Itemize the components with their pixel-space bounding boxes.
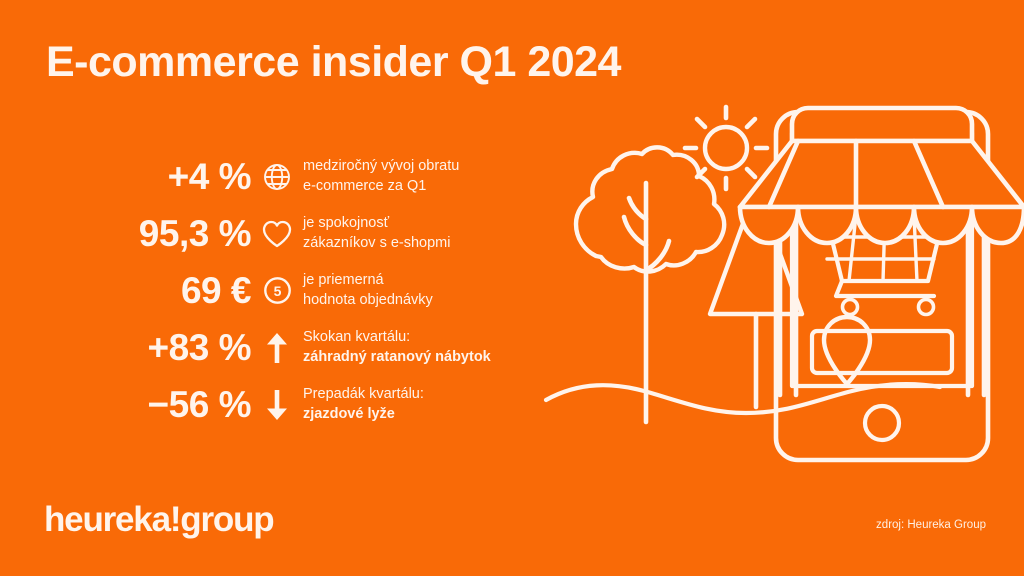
- stat-line-2: záhradný ratanový nábytok: [303, 348, 491, 367]
- stat-line-2: zjazdové lyže: [303, 405, 424, 424]
- svg-text:5: 5: [273, 283, 281, 299]
- deciduous-tree: [576, 147, 724, 422]
- stats-list: +4 % medziročný vývoj obratu e-commerce …: [46, 148, 566, 433]
- heart-icon: [251, 219, 303, 249]
- arrow-up-icon: [251, 332, 303, 364]
- stat-value: +4 %: [46, 158, 251, 195]
- infographic-canvas: E-commerce insider Q1 2024 +4 % medziroč…: [0, 0, 1024, 576]
- stat-line-2: hodnota objednávky: [303, 291, 433, 310]
- stat-value: −56 %: [46, 386, 251, 423]
- stat-line-1: je spokojnosť: [303, 214, 450, 233]
- stat-description: je spokojnosť zákazníkov s e-shopmi: [303, 214, 450, 252]
- stat-line-2: e-commerce za Q1: [303, 177, 459, 196]
- stat-description: medziročný vývoj obratu e-commerce za Q1: [303, 157, 459, 195]
- stat-row: 69 € 5 je priemerná hodnota objednávky: [46, 262, 566, 319]
- stat-row: +83 % Skokan kvartálu: záhradný ratanový…: [46, 319, 566, 376]
- page-title: E-commerce insider Q1 2024: [46, 38, 621, 87]
- stat-row: −56 % Prepadák kvartálu: zjazdové lyže: [46, 376, 566, 433]
- source-credit: zdroj: Heureka Group: [876, 519, 986, 531]
- stat-row: +4 % medziročný vývoj obratu e-commerce …: [46, 148, 566, 205]
- stat-line-1: medziročný vývoj obratu: [303, 157, 459, 176]
- heureka-group-logo: heureka!group: [44, 500, 273, 540]
- stat-value: 95,3 %: [46, 215, 251, 252]
- stat-description: Skokan kvartálu: záhradný ratanový nábyt…: [303, 328, 491, 366]
- coin-icon: 5: [251, 276, 303, 305]
- arrow-down-icon: [251, 389, 303, 421]
- ground-line: [546, 384, 940, 413]
- stat-description: Prepadák kvartálu: zjazdové lyže: [303, 385, 424, 423]
- globe-icon: [251, 162, 303, 192]
- stat-line-1: Prepadák kvartálu:: [303, 385, 424, 404]
- ecommerce-storefront-phone-illustration: [540, 95, 1024, 495]
- stat-value: 69 €: [46, 272, 251, 309]
- stat-line-2: zákazníkov s e-shopmi: [303, 234, 450, 253]
- stat-description: je priemerná hodnota objednávky: [303, 271, 433, 309]
- storefront-awning: [740, 108, 1024, 243]
- stat-line-1: Skokan kvartálu:: [303, 328, 491, 347]
- stat-row: 95,3 % je spokojnosť zákazníkov s e-shop…: [46, 205, 566, 262]
- stat-value: +83 %: [46, 329, 251, 366]
- stat-line-1: je priemerná: [303, 271, 433, 290]
